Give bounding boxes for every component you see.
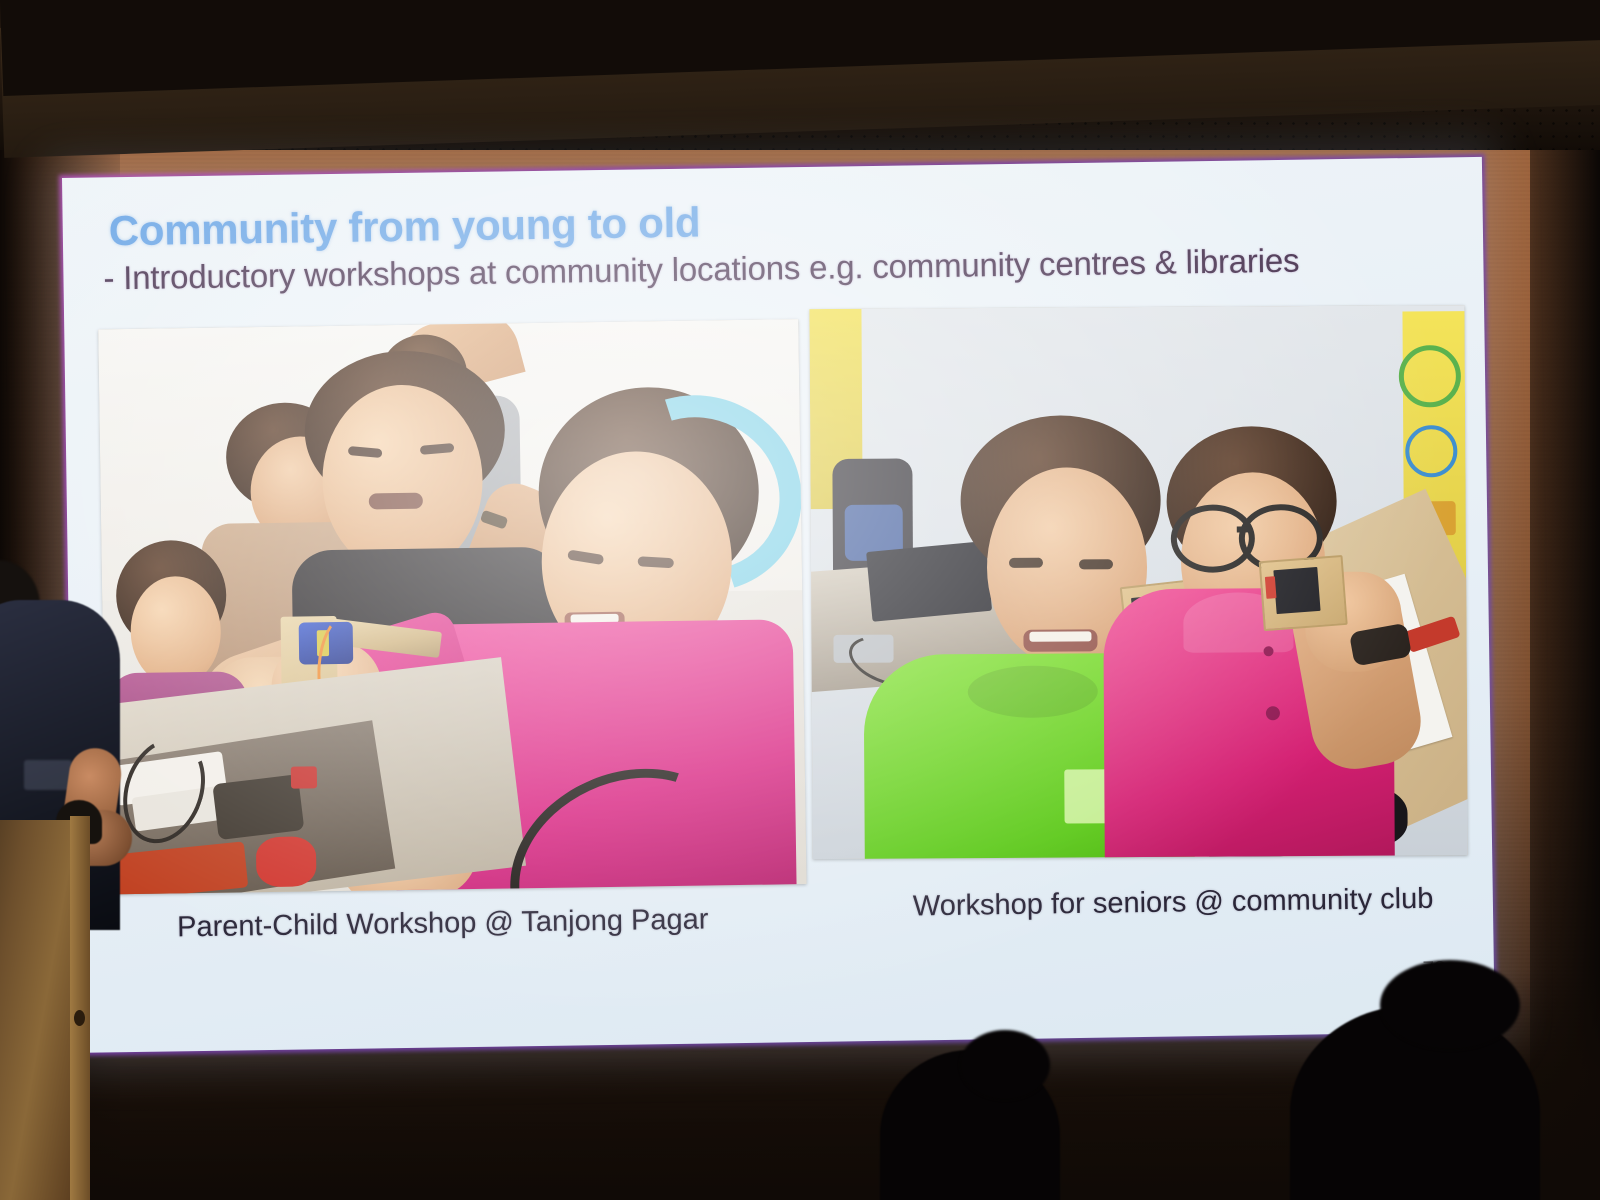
slide-title: Community from young to old [108,199,700,256]
polo-button-2 [1266,706,1280,720]
poster-blue-ring [1405,425,1457,477]
audience-hair-right [1380,960,1520,1050]
senior1-teeth [1029,631,1091,641]
photo-scene: Community from young to old - Introducto… [0,0,1600,1200]
caption-right: Workshop for seniors @ community club [913,883,1434,924]
lectern-wood-knot [74,1010,85,1026]
board-chip [1273,567,1320,614]
photo-parent-child-workshop [98,319,806,894]
polo-button [1264,646,1274,656]
audience-hair-left [960,1030,1050,1100]
projection-screen: Community from young to old - Introducto… [62,157,1495,1053]
presenter-badge [24,760,72,790]
senior1-eye-right [1079,559,1113,569]
senior2-micro-board [1259,555,1348,631]
girl-eye-right [638,556,674,568]
senior1-eye-left [1009,558,1043,568]
red-part [291,766,317,788]
slide: Community from young to old - Introducto… [62,157,1495,1053]
board-connector [1265,576,1277,599]
photo-seniors-workshop [809,305,1467,859]
lectern-edge [70,816,90,1200]
glasses-bridge [1237,526,1251,532]
caption-left: Parent-Child Workshop @ Tanjong Pagar [177,903,709,944]
mother-mouth [369,493,423,510]
poster-green-ring [1399,345,1461,407]
red-blob [256,836,317,887]
laptop-background [866,541,992,622]
